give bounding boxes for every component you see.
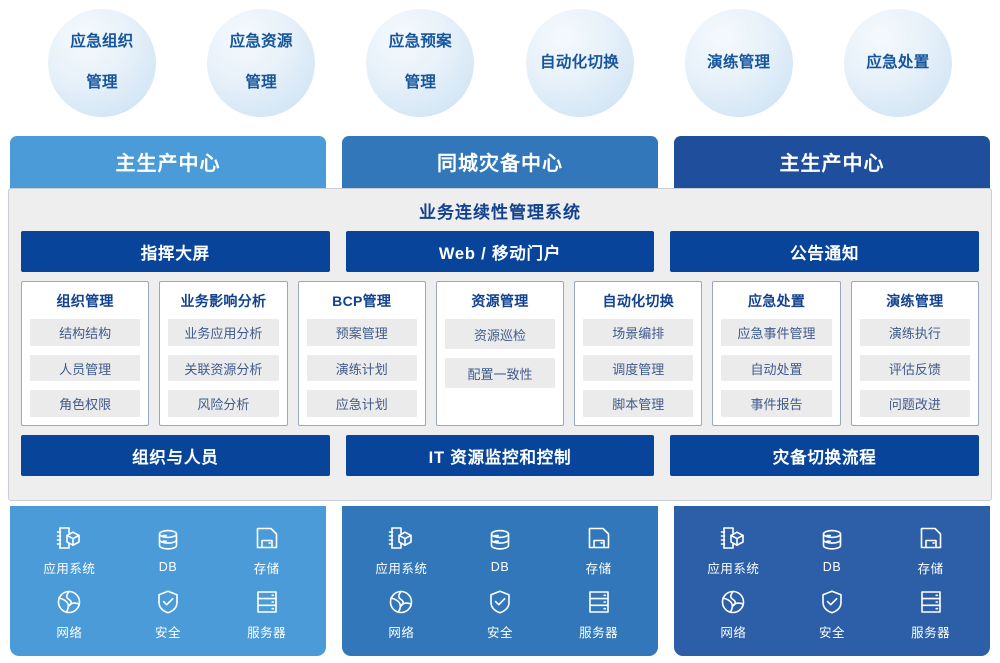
bubble-label: 自动化切换 [534,53,625,73]
bubble-line-2: 管理 [224,73,299,93]
server-rack-icon [585,588,613,616]
infra-label: 安全 [819,622,845,641]
infra-cell-application-system[interactable]: 应用系统 [707,524,759,577]
network-globe-icon [387,588,415,616]
card-item[interactable]: 关联资源分析 [168,355,278,382]
band-announcement[interactable]: 公告通知 [670,231,979,272]
application-system-icon [55,524,83,552]
infra-panel-metro-dr: 应用系统 DB [342,506,658,656]
bubble-line-1: 应急资源 [224,32,299,52]
card-item[interactable]: 配置一致性 [445,358,555,388]
top-band-row: 指挥大屏 Web / 移动门户 公告通知 [9,231,991,272]
card-title: 业务影响分析 [168,291,278,311]
band-it-resource-monitoring[interactable]: IT 资源监控和控制 [346,435,655,476]
card-drill-management[interactable]: 演练管理 演练执行 评估反馈 问题改进 [851,281,979,426]
card-item[interactable]: 人员管理 [30,355,140,382]
infra-cell-application-system[interactable]: 应用系统 [43,524,95,577]
band-label: 公告通知 [790,240,859,264]
bubble-line-2: 管理 [64,73,139,93]
infra-cell-security[interactable]: 安全 [818,588,846,641]
infra-cell-database[interactable]: DB [486,526,514,574]
storage-icon [585,524,613,552]
infra-label: 存储 [254,558,280,577]
infra-cell-database[interactable]: DB [818,526,846,574]
card-resource-management[interactable]: 资源管理 资源巡检 配置一致性 [436,281,564,426]
infra-label: 安全 [487,622,513,641]
database-icon [154,526,182,554]
bubble-emergency-plan[interactable]: 应急预案管理 [366,9,474,117]
band-dr-switchover-process[interactable]: 灾备切换流程 [670,435,979,476]
storage-icon [917,524,945,552]
bubble-emergency-resource[interactable]: 应急资源管理 [207,9,315,117]
security-shield-icon [486,588,514,616]
center-bar-primary-production[interactable]: 主生产中心 [10,136,326,192]
band-label: IT 资源监控和控制 [429,444,572,468]
infra-label: 应用系统 [43,558,95,577]
center-bar-label: 主生产中心 [116,147,221,176]
infra-label: 存储 [918,558,944,577]
panel-title: 业务连续性管理系统 [9,189,991,231]
infra-label: 网络 [388,622,414,641]
infra-label: 网络 [56,622,82,641]
card-item[interactable]: 场景编排 [583,319,693,346]
infra-label: DB [491,560,509,574]
card-item[interactable]: 角色权限 [30,390,140,417]
infra-panel-primary-production-2: 应用系统 DB [674,506,990,656]
infra-label: 应用系统 [707,558,759,577]
center-bar-primary-production-2[interactable]: 主生产中心 [674,136,990,192]
card-item[interactable]: 问题改进 [860,390,970,417]
card-item[interactable]: 应急计划 [307,390,417,417]
capability-bubble-row: 应急组织管理 应急资源管理 应急预案管理 自动化切换 演练管理 应急处置 [0,0,1000,126]
database-icon [486,526,514,554]
band-label: 灾备切换流程 [773,444,877,468]
card-organization-management[interactable]: 组织管理 结构结构 人员管理 角色权限 [21,281,149,426]
card-item[interactable]: 应急事件管理 [721,319,831,346]
card-item[interactable]: 调度管理 [583,355,693,382]
diagram-root: 应急组织管理 应急资源管理 应急预案管理 自动化切换 演练管理 应急处置 主生产… [0,0,1000,663]
network-globe-icon [719,588,747,616]
card-item[interactable]: 业务应用分析 [168,319,278,346]
infra-cell-storage[interactable]: 存储 [253,524,281,577]
card-item[interactable]: 脚本管理 [583,390,693,417]
card-item[interactable]: 自动处置 [721,355,831,382]
card-item[interactable]: 预案管理 [307,319,417,346]
security-shield-icon [818,588,846,616]
module-card-row: 组织管理 结构结构 人员管理 角色权限 业务影响分析 业务应用分析 关联资源分析… [9,272,991,435]
card-item[interactable]: 结构结构 [30,319,140,346]
card-item[interactable]: 风险分析 [168,390,278,417]
card-title: 组织管理 [30,291,140,311]
card-title: 应急处置 [721,291,831,311]
card-item[interactable]: 事件报告 [721,390,831,417]
infra-label: 存储 [586,558,612,577]
infra-cell-network[interactable]: 网络 [387,588,415,641]
card-item[interactable]: 评估反馈 [860,355,970,382]
infrastructure-row: 应用系统 DB [10,506,990,656]
storage-icon [253,524,281,552]
infra-cell-network[interactable]: 网络 [55,588,83,641]
band-label: 组织与人员 [132,444,219,468]
center-bar-label: 主生产中心 [780,147,885,176]
data-center-header-row: 主生产中心 同城灾备中心 主生产中心 [10,136,990,192]
security-shield-icon [154,588,182,616]
server-rack-icon [253,588,281,616]
infra-label: 网络 [720,622,746,641]
center-bar-label: 同城灾备中心 [437,147,563,176]
card-item[interactable]: 演练执行 [860,319,970,346]
band-command-screen[interactable]: 指挥大屏 [21,231,330,272]
server-rack-icon [917,588,945,616]
application-system-icon [719,524,747,552]
card-business-impact-analysis[interactable]: 业务影响分析 业务应用分析 关联资源分析 风险分析 [159,281,287,426]
infra-label: DB [159,560,177,574]
network-globe-icon [55,588,83,616]
bubble-emergency-organization[interactable]: 应急组织管理 [48,9,156,117]
card-item[interactable]: 演练计划 [307,355,417,382]
bubble-line-2: 管理 [383,73,458,93]
infra-cell-database[interactable]: DB [154,526,182,574]
bubble-label: 演练管理 [701,53,776,73]
bubble-automated-switchover[interactable]: 自动化切换 [526,9,634,117]
infra-cell-network[interactable]: 网络 [719,588,747,641]
infra-cell-server[interactable]: 服务器 [247,588,286,641]
infra-cell-application-system[interactable]: 应用系统 [375,524,427,577]
card-bcp-management[interactable]: BCP管理 预案管理 演练计划 应急计划 [298,281,426,426]
infra-label: 服务器 [579,622,618,641]
infra-cell-security[interactable]: 安全 [154,588,182,641]
card-title: BCP管理 [307,291,417,311]
application-system-icon [387,524,415,552]
bubble-line-1: 应急组织 [64,32,139,52]
bubble-line-1: 应急预案 [383,32,458,52]
card-title: 演练管理 [860,291,970,311]
bubble-label: 应急处置 [860,53,935,73]
infra-cell-server[interactable]: 服务器 [911,588,950,641]
infra-label: 服务器 [247,622,286,641]
infra-cell-security[interactable]: 安全 [486,588,514,641]
card-emergency-response[interactable]: 应急处置 应急事件管理 自动处置 事件报告 [712,281,840,426]
bcm-panel: 业务连续性管理系统 指挥大屏 Web / 移动门户 公告通知 组织管理 结构结构… [8,188,992,501]
infra-cell-server[interactable]: 服务器 [579,588,618,641]
band-label: 指挥大屏 [141,240,210,264]
infra-cell-storage[interactable]: 存储 [917,524,945,577]
card-title: 资源管理 [445,291,555,311]
infra-label: 安全 [155,622,181,641]
bottom-band-row: 组织与人员 IT 资源监控和控制 灾备切换流程 [9,435,991,476]
card-automated-switchover[interactable]: 自动化切换 场景编排 调度管理 脚本管理 [574,281,702,426]
band-label: Web / 移动门户 [439,240,561,264]
band-web-mobile-portal[interactable]: Web / 移动门户 [346,231,655,272]
database-icon [818,526,846,554]
infra-panel-primary-production: 应用系统 DB [10,506,326,656]
infra-cell-storage[interactable]: 存储 [585,524,613,577]
band-organization-personnel[interactable]: 组织与人员 [21,435,330,476]
card-title: 自动化切换 [583,291,693,311]
bubble-drill-management[interactable]: 演练管理 [685,9,793,117]
card-item[interactable]: 资源巡检 [445,319,555,349]
infra-label: DB [823,560,841,574]
infra-label: 服务器 [911,622,950,641]
bubble-emergency-response[interactable]: 应急处置 [844,9,952,117]
infra-label: 应用系统 [375,558,427,577]
center-bar-metro-dr[interactable]: 同城灾备中心 [342,136,658,192]
